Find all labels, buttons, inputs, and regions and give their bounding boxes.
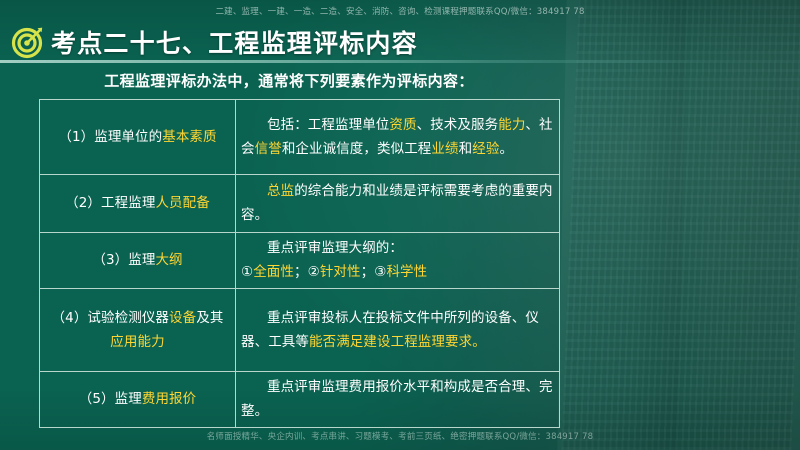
description-plain: 、技术及服务 <box>417 117 499 133</box>
criterion-text: （5）监理费用报价 <box>45 387 230 411</box>
description-highlight: 经验 <box>472 141 499 157</box>
description-highlight: 能否满足建设工程监理要求。 <box>309 334 486 350</box>
criterion-plain: （3）监理 <box>92 252 155 268</box>
description-plain: 。 <box>499 141 513 157</box>
description-text: 重点评审监理费用报价水平和构成是否合理、完整。 <box>241 375 554 423</box>
criterion-plain: （4）试验检测仪器 <box>52 310 170 326</box>
table-cell-description: 总监的综合能力和业绩是评标需要考虑的重要内容。 <box>236 175 560 233</box>
description-highlight: 信誉 <box>255 141 282 157</box>
description-plain: ；③ <box>361 264 387 280</box>
page-title: 考点二十七、工程监理评标内容 <box>51 24 418 60</box>
description-plain: 和企业诚信度，类似工程 <box>282 141 432 157</box>
table-cell-criterion: （5）监理费用报价 <box>40 372 236 428</box>
criterion-highlight: 应用能力 <box>110 334 164 350</box>
table-row: （4）试验检测仪器设备及其应用能力重点评审投标人在投标文件中所列的设备、仪器、工… <box>40 289 560 372</box>
criterion-text: （2）工程监理人员配备 <box>45 191 230 215</box>
criterion-plain: （1）监理单位的 <box>58 129 162 145</box>
subtitle-text: 工程监理评标办法中，通常将下列要素作为评标内容： <box>39 70 539 91</box>
table-cell-description: 重点评审监理费用报价水平和构成是否合理、完整。 <box>236 372 560 428</box>
criterion-highlight: 设备 <box>169 310 196 326</box>
description-text: 总监的综合能力和业绩是评标需要考虑的重要内容。 <box>241 179 554 227</box>
table-cell-criterion: （4）试验检测仪器设备及其应用能力 <box>40 289 236 372</box>
description-text: 重点评审投标人在投标文件中所列的设备、仪器、工具等能否满足建设工程监理要求。 <box>241 306 554 354</box>
description-highlight: 能力 <box>498 117 525 133</box>
criterion-plain: 及其 <box>196 310 223 326</box>
criterion-text: （1）监理单位的基本素质 <box>45 125 230 149</box>
table-cell-description: 重点评审投标人在投标文件中所列的设备、仪器、工具等能否满足建设工程监理要求。 <box>236 289 560 372</box>
table-cell-description: 包括：工程监理单位资质、技术及服务能力、社会信誉和企业诚信度，类似工程业绩和经验… <box>236 100 560 175</box>
table-row: （5）监理费用报价重点评审监理费用报价水平和构成是否合理、完整。 <box>40 372 560 428</box>
description-plain: ① <box>241 264 253 280</box>
description-plain: ；② <box>294 264 320 280</box>
table-row: （2）工程监理人员配备总监的综合能力和业绩是评标需要考虑的重要内容。 <box>40 175 560 233</box>
description-plain: 包括：工程监理单位 <box>267 117 389 133</box>
description-plain: 重点评审监理大纲的： <box>267 240 403 256</box>
table-cell-criterion: （2）工程监理人员配备 <box>40 175 236 233</box>
description-highlight: 总监 <box>267 183 294 199</box>
header-divider <box>0 60 800 63</box>
description-text: 重点评审监理大纲的：①全面性；②针对性；③科学性 <box>241 236 554 284</box>
description-text: 包括：工程监理单位资质、技术及服务能力、社会信誉和企业诚信度，类似工程业绩和经验… <box>241 113 554 161</box>
table-cell-criterion: （3）监理大纲 <box>40 233 236 289</box>
criterion-highlight: 大纲 <box>155 252 182 268</box>
target-dart-icon <box>8 23 48 61</box>
criterion-plain: （5）监理 <box>79 391 142 407</box>
description-highlight: 科学性 <box>386 264 427 280</box>
slide-header: 考点二十七、工程监理评标内容 <box>0 22 800 62</box>
criterion-highlight: 人员配备 <box>155 195 209 211</box>
description-plain: 和 <box>459 141 473 157</box>
table-cell-description: 重点评审监理大纲的：①全面性；②针对性；③科学性 <box>236 233 560 289</box>
watermark-bottom: 名师面授精华、央企内训、考点串讲、习题模考、考前三页纸、绝密押题联系QQ/微信：… <box>0 431 800 443</box>
evaluation-content-table: （1）监理单位的基本素质包括：工程监理单位资质、技术及服务能力、社会信誉和企业诚… <box>39 99 560 428</box>
criterion-text: （4）试验检测仪器设备及其应用能力 <box>45 306 230 354</box>
table-row: （1）监理单位的基本素质包括：工程监理单位资质、技术及服务能力、社会信誉和企业诚… <box>40 100 560 175</box>
description-highlight: 全面性 <box>253 264 294 280</box>
description-highlight: 针对性 <box>320 264 361 280</box>
watermark-top: 二建、监理、一建、一造、二造、安全、消防、咨询、检测课程押题联系QQ/微信：38… <box>0 6 800 18</box>
slide-canvas: 二建、监理、一建、一造、二造、安全、消防、咨询、检测课程押题联系QQ/微信：38… <box>0 0 800 450</box>
criterion-highlight: 基本素质 <box>162 129 216 145</box>
description-highlight: 业绩 <box>431 141 458 157</box>
criterion-highlight: 费用报价 <box>142 391 196 407</box>
table-row: （3）监理大纲重点评审监理大纲的：①全面性；②针对性；③科学性 <box>40 233 560 289</box>
criterion-text: （3）监理大纲 <box>45 248 230 272</box>
description-highlight: 资质 <box>389 117 416 133</box>
description-plain: 重点评审监理费用报价水平和构成是否合理、完整。 <box>241 379 553 419</box>
criterion-plain: （2）工程监理 <box>65 195 155 211</box>
table-cell-criterion: （1）监理单位的基本素质 <box>40 100 236 175</box>
